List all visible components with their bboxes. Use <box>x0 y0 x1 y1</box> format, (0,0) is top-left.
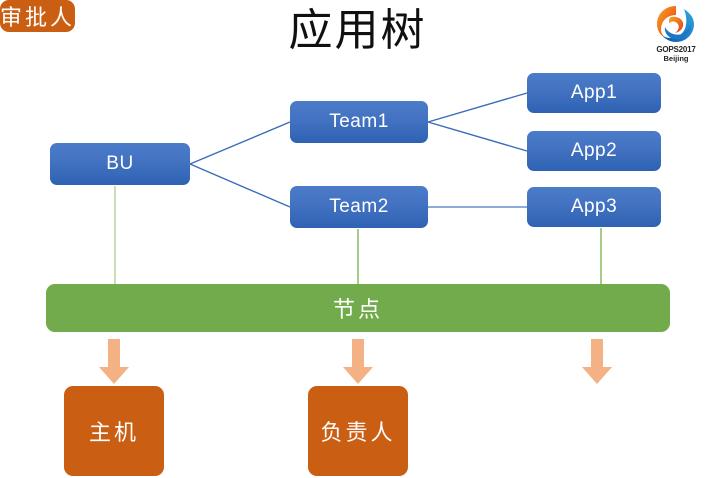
link-team1-app1 <box>428 93 527 122</box>
down-arrow-to-shenpiren <box>580 339 614 385</box>
node-app1[interactable]: App1 <box>527 73 661 113</box>
node-shenpiren[interactable]: 审批人 <box>0 0 75 32</box>
node-zhuji[interactable]: 主机 <box>64 386 164 476</box>
node-app2[interactable]: App2 <box>527 131 661 171</box>
slide-canvas: 应用树 GOPS2017 Beijing <box>0 0 715 478</box>
link-bu-team1 <box>190 122 290 164</box>
node-fuzeren[interactable]: 负责人 <box>308 386 408 476</box>
logo-line-1: GOPS2017 <box>646 45 706 54</box>
node-jiedian[interactable]: 节点 <box>46 284 670 332</box>
node-app3[interactable]: App3 <box>527 187 661 227</box>
page-title: 应用树 <box>0 2 715 60</box>
logo-line-2: Beijing <box>646 54 706 63</box>
link-team1-app2 <box>428 122 527 151</box>
node-team2[interactable]: Team2 <box>290 186 428 228</box>
node-team1[interactable]: Team1 <box>290 101 428 143</box>
gops-logo-icon <box>654 3 698 45</box>
link-bu-team2 <box>190 164 290 207</box>
gops-logo: GOPS2017 Beijing <box>646 3 706 65</box>
node-bu[interactable]: BU <box>50 143 190 185</box>
down-arrow-to-fuzeren <box>341 339 375 385</box>
down-arrow-to-zhuji <box>97 339 131 385</box>
